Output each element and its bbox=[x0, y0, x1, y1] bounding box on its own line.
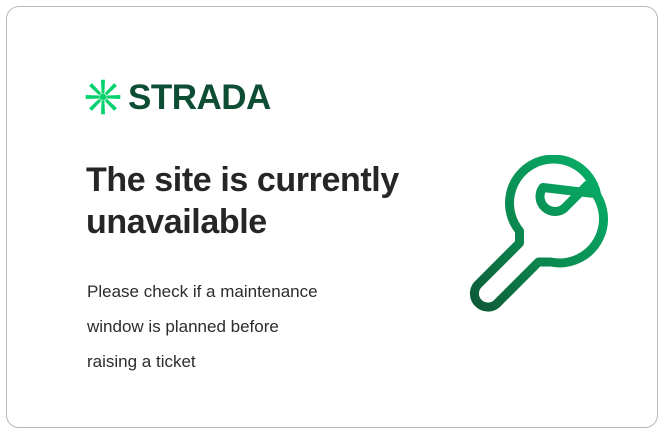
strada-asterisk-icon bbox=[85, 79, 121, 115]
brand-logo: STRADA bbox=[85, 77, 271, 117]
description-line: window is planned before bbox=[87, 309, 397, 344]
description-line: Please check if a maintenance bbox=[87, 274, 397, 309]
status-card: STRADA The site is currently unavailable… bbox=[6, 6, 658, 428]
wrench-icon bbox=[459, 155, 619, 319]
page-title: The site is currently unavailable bbox=[86, 159, 416, 243]
brand-wordmark: STRADA bbox=[128, 80, 271, 115]
status-description: Please check if a maintenance window is … bbox=[87, 274, 397, 379]
description-line: raising a ticket bbox=[87, 344, 397, 379]
